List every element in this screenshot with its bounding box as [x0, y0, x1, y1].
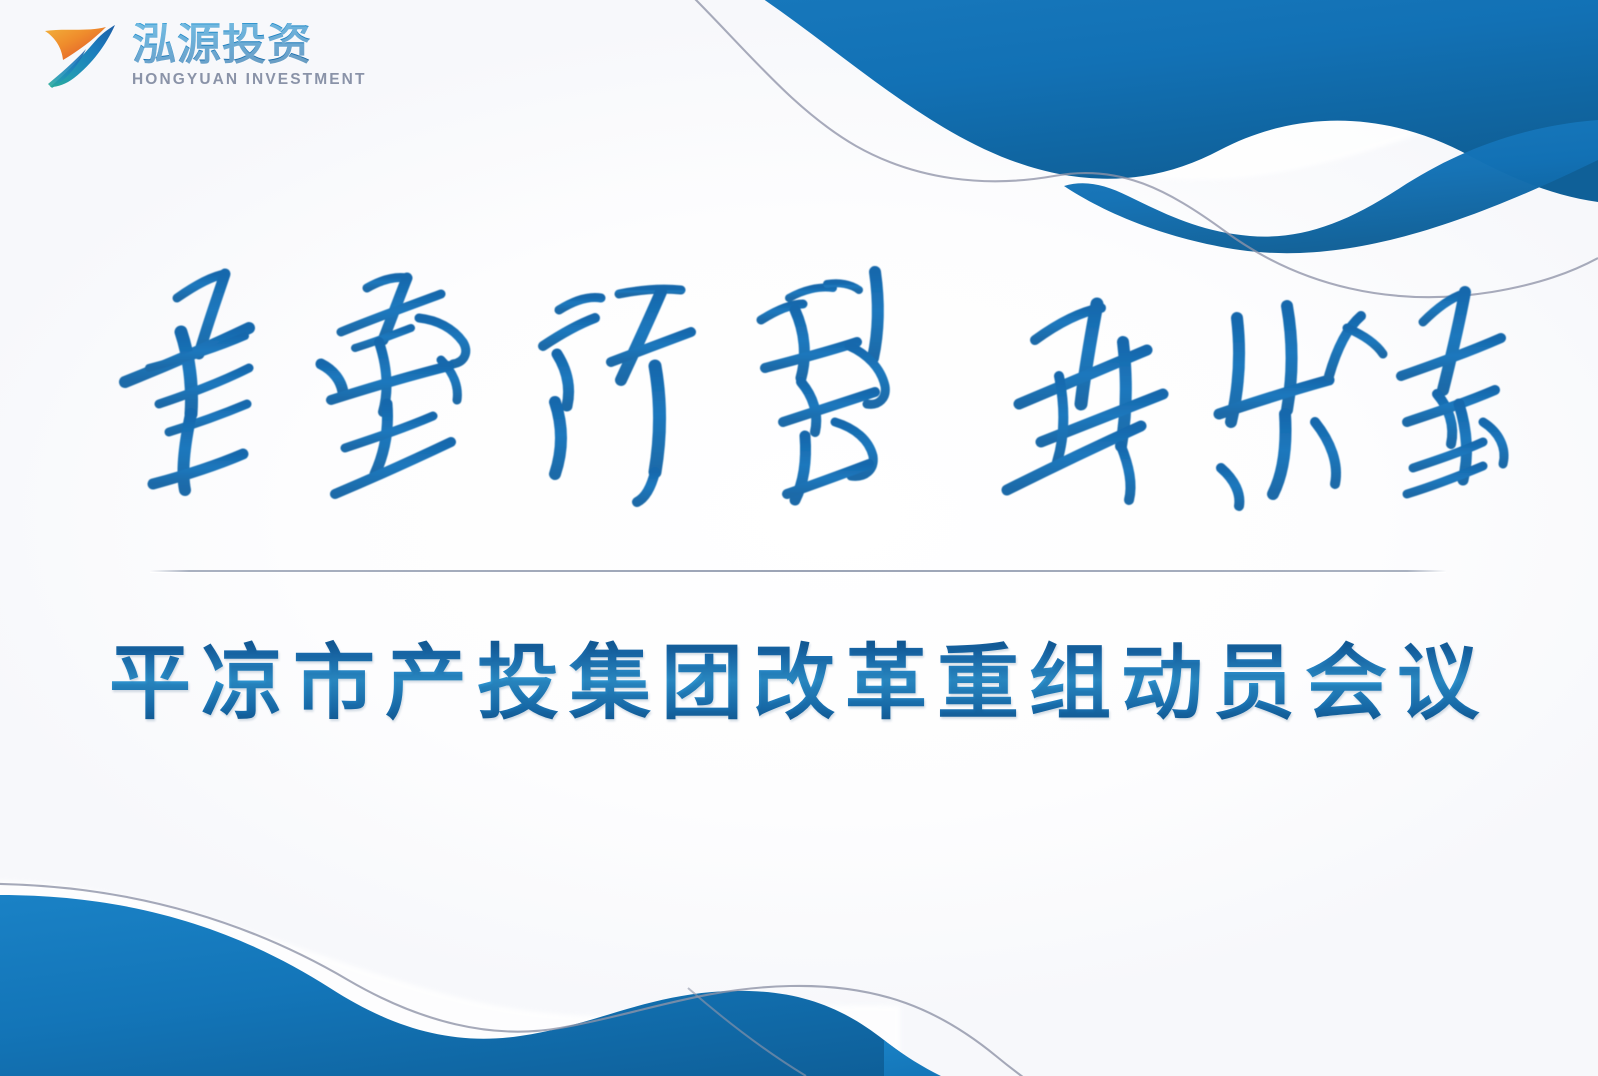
headline-calligraphy: 重整行装 再出发 — [0, 236, 1598, 526]
decorative-wave-layer — [0, 0, 1598, 1076]
company-name-cn: 泓源投资 — [132, 23, 367, 68]
horizontal-rule — [150, 570, 1446, 572]
company-name-en: HONGYUAN INVESTMENT — [132, 71, 367, 89]
headline-text: 重整行装 再出发 — [0, 381, 1598, 382]
poster-canvas: 泓源投资 HONGYUAN INVESTMENT — [0, 0, 1598, 1076]
thin-gray-contour-curve-bottom — [0, 884, 1090, 1076]
brand-logo[interactable]: 泓源投资 HONGYUAN INVESTMENT — [36, 18, 367, 92]
hongyuan-bird-swoosh-icon — [36, 18, 122, 92]
thin-gray-contour-curve-corner — [688, 988, 806, 1076]
brand-logo-text: 泓源投资 HONGYUAN INVESTMENT — [132, 21, 367, 89]
bottom-left-blue-wave — [0, 880, 1180, 1076]
event-subtitle: 平凉市产投集团改革重组动员会议 — [0, 634, 1598, 734]
top-right-blue-wave — [718, 0, 1598, 253]
